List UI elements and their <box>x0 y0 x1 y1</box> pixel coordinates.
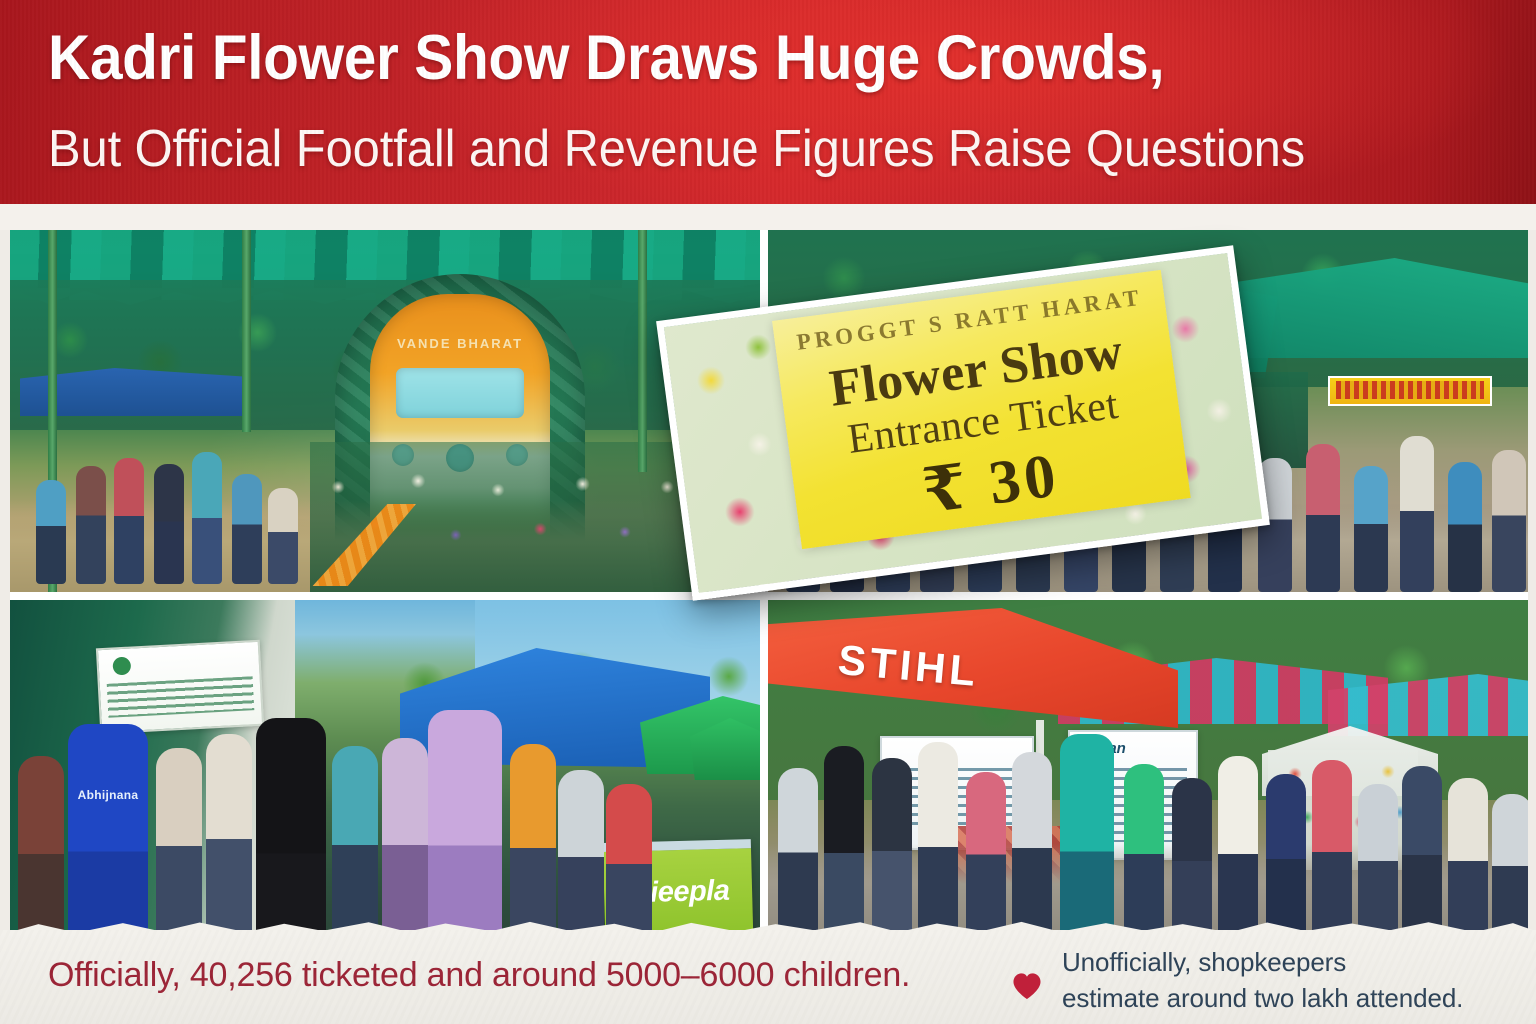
crowd-group <box>10 674 760 944</box>
tshirt-text: Abhijnana <box>68 788 148 802</box>
heart-icon <box>1012 972 1042 1000</box>
footer-caption-bar: Officially, 40,256 ticketed and around 5… <box>0 930 1536 1024</box>
crowd-group <box>18 384 318 584</box>
photo-floral-train: VANDE BHARAT <box>10 222 760 592</box>
torn-paper-edge-top <box>0 204 1536 230</box>
photo-stihl-stalls: STIHL Udyan <box>768 600 1528 944</box>
official-figure-caption: Officially, 40,256 ticketed and around 5… <box>48 956 910 995</box>
page-title: Kadri Flower Show Draws Huge Crowds, <box>48 24 1406 92</box>
train-window <box>396 368 524 418</box>
photo-stalls-walkway: Shieepla Abhijnana <box>10 600 760 944</box>
train-label: VANDE BHARAT <box>370 336 550 351</box>
crowd-group <box>768 694 1528 944</box>
page-subtitle: But Official Footfall and Revenue Figure… <box>48 120 1430 178</box>
stihl-brand-label: STIHL <box>836 636 981 696</box>
infographic-poster: Kadri Flower Show Draws Huge Crowds, But… <box>0 0 1536 1024</box>
unofficial-line-1: Unofficially, shopkeepers <box>1062 944 1532 980</box>
header-band: Kadri Flower Show Draws Huge Crowds, But… <box>0 0 1536 212</box>
unofficial-line-2: estimate around two lakh attended. <box>1062 980 1532 1016</box>
logo-mark-icon <box>112 657 131 676</box>
support-pole <box>638 222 647 472</box>
unofficial-estimate-caption: Unofficially, shopkeepers estimate aroun… <box>1062 944 1532 1016</box>
